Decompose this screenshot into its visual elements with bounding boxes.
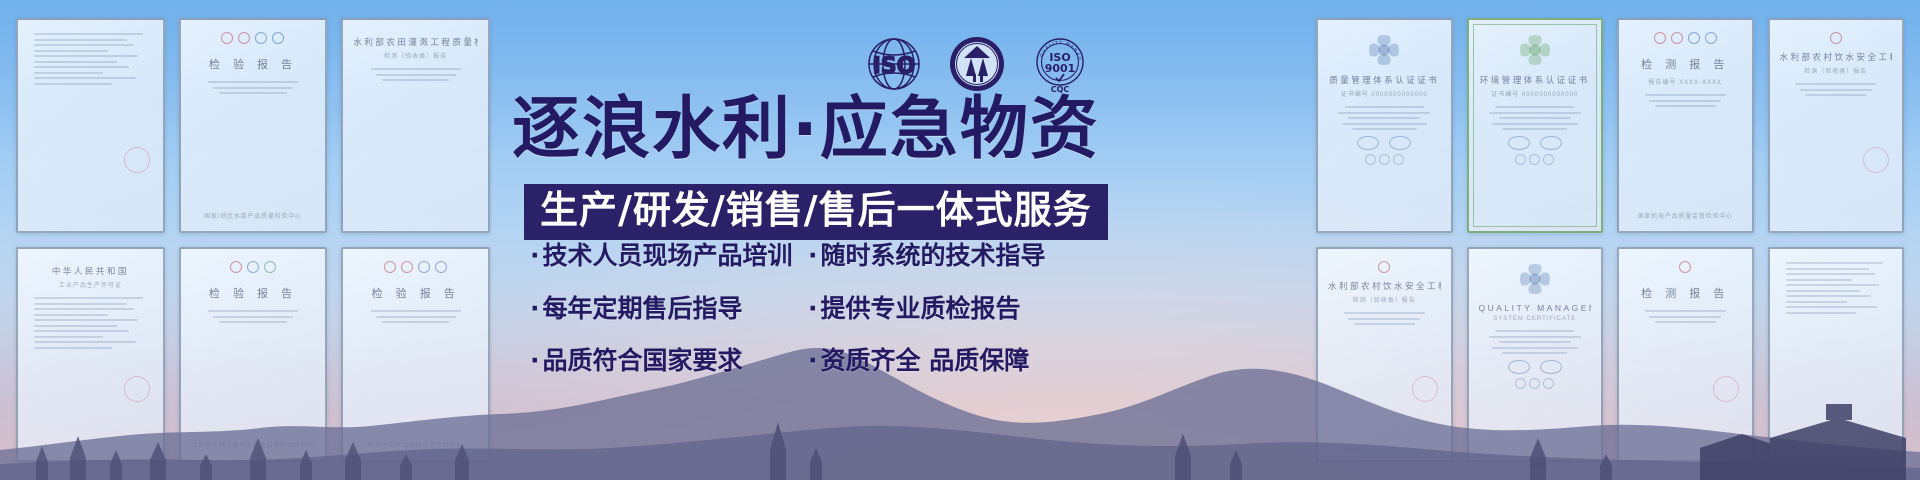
- certificate-body-lines: [28, 33, 153, 85]
- certificate-subtitle: 检测（验收类）报告: [384, 51, 447, 60]
- svg-text:ISO: ISO: [873, 54, 916, 79]
- accreditation-badges: [1357, 136, 1411, 150]
- certificate-title: 水利部农村饮水安全工程质量检测中心: [1328, 280, 1441, 292]
- cnas-badge-icon: [1357, 136, 1379, 150]
- certificate-subtitle: 工业产品生产许可证: [59, 280, 122, 289]
- certification-mark-icon: [401, 261, 413, 273]
- water-conservancy-test-center-report-2: 水利部农村饮水安全工程质量检测中心检测（验收类）报告: [1768, 18, 1905, 233]
- service-bullet-list: ·技术人员现场产品培训·随时系统的技术指导·每年定期售后指导·提供专业质检报告·…: [530, 242, 1070, 375]
- svg-text:9001: 9001: [1045, 62, 1076, 75]
- certificate-body-lines: [1479, 330, 1592, 354]
- olympic-rings-icon: [1515, 378, 1554, 389]
- certification-mark-icon: [384, 261, 396, 273]
- certification-marks: [1679, 260, 1691, 273]
- certification-marks: [1830, 31, 1842, 44]
- certification-mark-icon: [1830, 32, 1842, 44]
- certificate-body-lines: [191, 81, 316, 94]
- service-bullet: ·品质符合国家要求: [530, 347, 808, 375]
- certificate-body-lines: [1780, 83, 1893, 96]
- certification-marks: [221, 31, 284, 44]
- certification-mark-icon: [1705, 32, 1717, 44]
- inspection-report-green-mark: 检 验 报 告江苏省特种设备产品质量监督检验检测院: [179, 247, 328, 462]
- certificate-body-lines: [353, 68, 478, 81]
- certificate-footer: 国家机电产品质量监督检验中心: [1638, 211, 1733, 222]
- iso-9001-cqc-badge: QUALITY MANAGEMENT SYSTEM ISO 9001 CQC: [1028, 32, 1092, 96]
- water-conservancy-test-center-report: 水利部农田灌溉工程质量检测中心检测（验收类）报告: [341, 18, 490, 233]
- certificate-wall-left: 检 验 报 告国家/地区水泵产品质量检验中心水利部农田灌溉工程质量检测中心检测（…: [6, 0, 500, 480]
- accreditation-badges: [1508, 360, 1562, 374]
- service-bullet-label: 提供专业质检报告: [821, 294, 1021, 323]
- certification-mark-icon: [1654, 32, 1666, 44]
- edge-certificate: [1768, 247, 1905, 462]
- atom-logo-icon: [1369, 35, 1399, 65]
- certification-marks: [384, 260, 447, 273]
- certification-mark-icon: [435, 261, 447, 273]
- certificate-title: 中华人民共和国: [52, 265, 129, 277]
- service-bullet: ·资质齐全 品质保障: [808, 347, 1070, 375]
- accreditation-badges: [1508, 136, 1562, 150]
- certificate-footer: 国家/地区水泵产品质量检验中心: [204, 211, 302, 222]
- atom-logo-icon: [1520, 264, 1550, 294]
- detection-report-left: 检 测 报 告报告编号 XXXX-XXXX国家机电产品质量监督检验中心: [1617, 18, 1754, 233]
- certification-mark-icon: [247, 261, 259, 273]
- certification-mark-icon: [255, 32, 267, 44]
- iaf-badge-icon: [1540, 360, 1562, 374]
- water-conservancy-test-report-3: 水利部农村饮水安全工程质量检测中心检测（验收类）报告: [1316, 247, 1453, 462]
- certificate-title: 检 验 报 告: [209, 285, 297, 301]
- atom-logo-icon: [1520, 35, 1550, 65]
- certificate-footer: 国家水泵产品质量监督检验中心: [368, 440, 463, 451]
- red-seal-stamp-icon: [1408, 373, 1440, 405]
- certificate-title: 检 验 报 告: [372, 285, 460, 301]
- inspection-report-cnas: 检 验 报 告国家水泵产品质量监督检验中心: [341, 247, 490, 462]
- certificate-title: 水利部农田灌溉工程质量检测中心: [353, 36, 478, 48]
- red-seal-stamp-icon: [1709, 373, 1741, 405]
- banner-subtitle-text: 生产/研发/销售/售后一体式服务: [540, 191, 1092, 231]
- certification-mark-icon: [1671, 32, 1683, 44]
- certification-mark-icon: [264, 261, 276, 273]
- iaf-badge-icon: [1389, 136, 1411, 150]
- certificate-wall-right: 质量管理体系认证证书证书编号 0000000000000环境管理体系认证证书证书…: [1306, 0, 1914, 480]
- industrial-product-production-license: 中华人民共和国工业产品生产许可证: [16, 247, 165, 462]
- certificate-subtitle: 证书编号 0000000000000: [1341, 89, 1428, 98]
- certificate-body-lines: [1328, 312, 1441, 325]
- service-bullet: ·技术人员现场产品培训: [530, 242, 808, 270]
- environmental-management-system-certificate: 环境管理体系认证证书证书编号 0000000000000: [1467, 18, 1604, 233]
- certification-mark-icon: [221, 32, 233, 44]
- bullet-marker-icon: ·: [530, 241, 540, 270]
- certification-marks: [1654, 31, 1717, 44]
- service-bullet: ·随时系统的技术指导: [808, 242, 1070, 270]
- certificate-title: 检 验 报 告: [209, 56, 297, 72]
- certificate-body-lines: [353, 310, 478, 323]
- certificate-title: QUALITY MANAGEMENT: [1479, 303, 1592, 313]
- certificate-body-lines: [1780, 262, 1893, 314]
- certification-mark-icon: [238, 32, 250, 44]
- quality-management-system-certificate: 质量管理体系认证证书证书编号 0000000000000: [1316, 18, 1453, 233]
- certification-mark-icon: [230, 261, 242, 273]
- iso-globe-badge: ISO: [862, 32, 926, 96]
- certification-mark-icon: [1688, 32, 1700, 44]
- service-bullet-label: 随时系统的技术指导: [821, 241, 1046, 270]
- iso-14000-badge: [945, 32, 1009, 96]
- promo-banner: 检 验 报 告国家/地区水泵产品质量检验中心水利部农田灌溉工程质量检测中心检测（…: [0, 0, 1920, 480]
- certificate-title: 水利部农村饮水安全工程质量检测中心: [1780, 51, 1893, 63]
- certificate-subtitle: 检测（验收类）报告: [1804, 66, 1867, 75]
- bullet-marker-icon: ·: [808, 346, 818, 375]
- bullet-marker-icon: ·: [530, 346, 540, 375]
- certificate-footer: 江苏省特种设备产品质量监督检验检测院: [192, 440, 314, 451]
- certificate-body-lines: [28, 297, 153, 349]
- iso-badges-row: ISO QUALITY MANAGEMENT: [862, 30, 1092, 98]
- certificate-title: 质量管理体系认证证书: [1329, 74, 1439, 86]
- banner-subtitle-bar: 生产/研发/销售/售后一体式服务: [524, 184, 1108, 240]
- service-bullet-label: 技术人员现场产品培训: [543, 241, 793, 270]
- certification-marks: [1378, 260, 1390, 273]
- certificate-body-lines: [1629, 94, 1742, 107]
- certificate-subtitle: 证书编号 0000000000000: [1491, 89, 1578, 98]
- olympic-rings-icon: [1365, 154, 1404, 165]
- cnas-badge-icon: [1508, 136, 1530, 150]
- red-seal-stamp-icon: [121, 373, 153, 405]
- service-bullet: ·每年定期售后指导: [530, 295, 808, 323]
- certificate-title: 环境管理体系认证证书: [1480, 74, 1590, 86]
- service-bullet-label: 品质符合国家要求: [543, 346, 743, 375]
- detection-report-right: 检 测 报 告: [1617, 247, 1754, 462]
- certificate-title: 检 测 报 告: [1641, 56, 1729, 72]
- banner-headline: 逐浪水利·应急物资: [512, 96, 1100, 164]
- red-seal-stamp-icon: [121, 144, 153, 176]
- certificate-subtitle: 报告编号 XXXX-XXXX: [1648, 77, 1722, 86]
- certification-mark-icon: [272, 32, 284, 44]
- certification-marks: [230, 260, 276, 273]
- certification-mark-icon: [1378, 261, 1390, 273]
- certificate-title: 检 测 报 告: [1641, 285, 1729, 301]
- bullet-marker-icon: ·: [808, 294, 818, 323]
- certification-mark-icon: [418, 261, 430, 273]
- bullet-marker-icon: ·: [530, 294, 540, 323]
- bullet-marker-icon: ·: [808, 241, 818, 270]
- service-bullet-label: 资质齐全 品质保障: [821, 346, 1030, 375]
- certificate-body-lines: [1328, 106, 1441, 130]
- certificate-subtitle: SYSTEM CERTIFICATE: [1493, 316, 1576, 322]
- olympic-rings-icon: [1515, 154, 1554, 165]
- iaf-badge-icon: [1540, 136, 1562, 150]
- certificate-subtitle: 检测（验收类）报告: [1353, 295, 1416, 304]
- inspection-report-cqc: 检 验 报 告国家/地区水泵产品质量检验中心: [179, 18, 328, 233]
- service-bullet: ·提供专业质检报告: [808, 295, 1070, 323]
- certification-mark-icon: [1679, 261, 1691, 273]
- quality-management-system-certificate-en: QUALITY MANAGEMENTSYSTEM CERTIFICATE: [1467, 247, 1604, 462]
- certificate-body-lines: [191, 310, 316, 323]
- sample-inspection-certificate: [16, 18, 165, 233]
- cnas-badge-icon: [1508, 360, 1530, 374]
- certificate-body-lines: [1629, 310, 1742, 323]
- certificate-body-lines: [1479, 106, 1592, 130]
- red-seal-stamp-icon: [1860, 144, 1892, 176]
- service-bullet-label: 每年定期售后指导: [543, 294, 743, 323]
